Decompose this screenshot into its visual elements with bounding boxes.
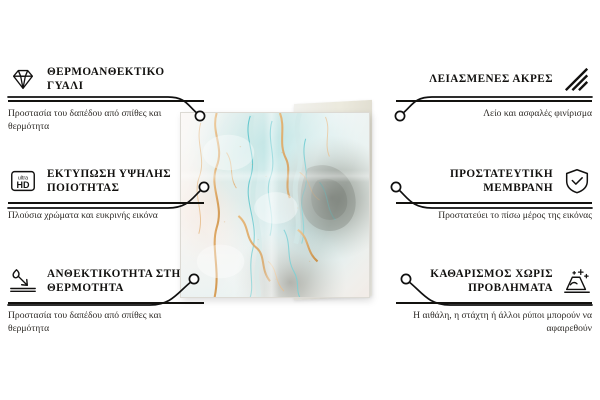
feature-divider [8, 202, 204, 204]
feature-heat-durability: ΑΝΘΕΚΤΙΚΟΤΗΤΑ ΣΤΗ ΘΕΡΜΟΤΗΤΑ Προστασία το… [8, 264, 204, 335]
feature-header: ultra HD ΕΚΤΥΠΩΣΗ ΥΨΗΛΗΣ ΠΟΙΟΤΗΤΑΣ [8, 164, 204, 198]
feature-title: ΑΝΘΕΚΤΙΚΟΤΗΤΑ ΣΤΗ ΘΕΡΜΟΤΗΤΑ [47, 267, 204, 296]
diagonal-stripes-icon [562, 64, 592, 94]
feature-divider [8, 100, 204, 102]
feature-description: Προστασία του δαπέδου από σπίθες και θερ… [8, 309, 204, 335]
flame-deflect-icon [8, 266, 38, 296]
feature-description: Η αιθάλη, η στάχτη ή άλλοι ρύποι μπορούν… [396, 309, 592, 335]
feature-title: ΕΚΤΥΠΩΣΗ ΥΨΗΛΗΣ ΠΟΙΟΤΗΤΑΣ [47, 167, 204, 196]
product-image [176, 104, 408, 302]
feature-header: ΑΝΘΕΚΤΙΚΟΤΗΤΑ ΣΤΗ ΘΕΡΜΟΤΗΤΑ [8, 264, 204, 298]
ultra-hd-icon: ultra HD [8, 166, 38, 196]
glass-panel [180, 112, 370, 298]
feature-high-quality-print: ultra HD ΕΚΤΥΠΩΣΗ ΥΨΗΛΗΣ ΠΟΙΟΤΗΤΑΣ Πλούσ… [8, 164, 204, 222]
feature-protective-membrane: ΠΡΟΣΤΑΤΕΥΤΙΚΗ ΜΕΜΒΡΑΝΗ Προστατεύει το πί… [396, 164, 592, 222]
feature-header: ΚΑΘΑΡΙΣΜΟΣ ΧΩΡΙΣ ΠΡΟΒΛΗΜΑΤΑ [396, 264, 592, 298]
feature-description: Λείο και ασφαλές φινίρισμα [396, 107, 592, 120]
feature-header: ΠΡΟΣΤΑΤΕΥΤΙΚΗ ΜΕΜΒΡΑΝΗ [396, 164, 592, 198]
feature-title: ΠΡΟΣΤΑΤΕΥΤΙΚΗ ΜΕΜΒΡΑΝΗ [396, 167, 553, 196]
feature-description: Προστατεύει το πίσω μέρος της εικόνας [396, 209, 592, 222]
feature-easy-cleaning: ΚΑΘΑΡΙΣΜΟΣ ΧΩΡΙΣ ΠΡΟΒΛΗΜΑΤΑ Η αιθάλη, η … [396, 264, 592, 335]
feature-polished-edges: ΛΕΙΑΣΜΕΝΕΣ ΑΚΡΕΣ Λείο και ασφαλές φινίρι… [396, 62, 592, 120]
feature-header: ΘΕΡΜΟΑΝΘΕΚΤΙΚΟ ΓΥΑΛΙ [8, 62, 204, 96]
feature-divider [8, 302, 204, 304]
abstract-marble-artwork [181, 113, 369, 297]
feature-divider [396, 202, 592, 204]
shield-check-icon [562, 166, 592, 196]
feature-header: ΛΕΙΑΣΜΕΝΕΣ ΑΚΡΕΣ [396, 62, 592, 96]
feature-divider [396, 302, 592, 304]
diamond-icon [8, 64, 38, 94]
sparkle-wipe-icon [562, 266, 592, 296]
feature-title: ΛΕΙΑΣΜΕΝΕΣ ΑΚΡΕΣ [396, 72, 553, 86]
feature-title: ΘΕΡΜΟΑΝΘΕΚΤΙΚΟ ΓΥΑΛΙ [47, 65, 204, 94]
feature-heat-resistant-glass: ΘΕΡΜΟΑΝΘΕΚΤΙΚΟ ΓΥΑΛΙ Προστασία του δαπέδ… [8, 62, 204, 133]
product-feature-infographic: ΘΕΡΜΟΑΝΘΕΚΤΙΚΟ ΓΥΑΛΙ Προστασία του δαπέδ… [0, 0, 600, 400]
feature-title: ΚΑΘΑΡΙΣΜΟΣ ΧΩΡΙΣ ΠΡΟΒΛΗΜΑΤΑ [396, 267, 553, 296]
feature-divider [396, 100, 592, 102]
feature-description: Προστασία του δαπέδου από σπίθες και θερ… [8, 107, 204, 133]
feature-description: Πλούσια χρώματα και ευκρινής εικόνα [8, 209, 204, 222]
ultra-hd-icon-large-label: HD [17, 180, 30, 190]
